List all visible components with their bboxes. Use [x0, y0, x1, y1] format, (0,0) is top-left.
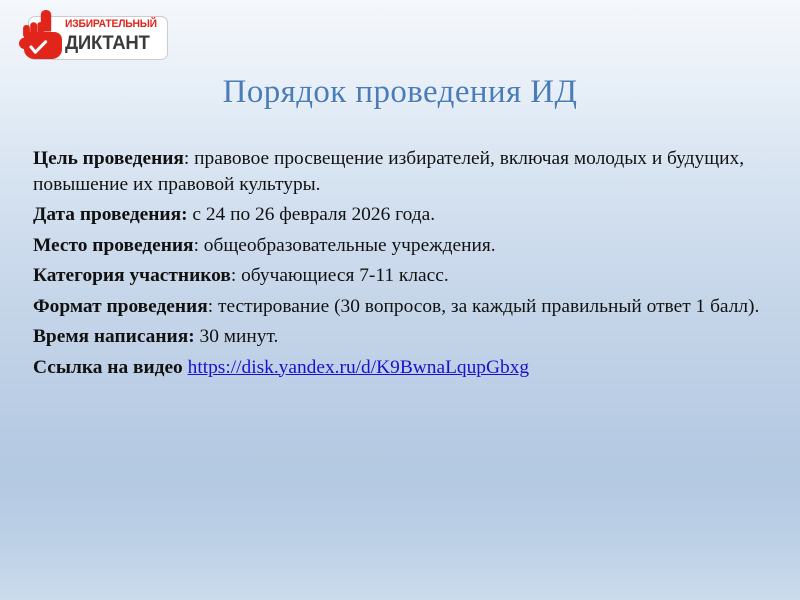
video-link[interactable]: https://disk.yandex.ru/d/K9BwnaLqupGbxg — [188, 357, 529, 378]
pointing-hand-icon — [16, 4, 70, 66]
content-item-date-rest: с 24 по 26 февраля 2026 года. — [188, 204, 436, 225]
content-item-format-rest: : тестирование (30 вопросов, за каждый п… — [208, 296, 760, 317]
content-item-category: Категория участников: обучающиеся 7-11 к… — [33, 263, 761, 289]
content-item-duration-rest: 30 минут. — [195, 326, 279, 347]
content-item-video-link-lead: Ссылка на видео — [33, 357, 183, 378]
content-item-date-lead: Дата проведения: — [33, 204, 188, 225]
content-item-format-lead: Формат проведения — [33, 296, 208, 317]
content-item-place-rest: : общеобразовательные учреждения. — [194, 235, 496, 256]
content-item-date: Дата проведения: с 24 по 26 февраля 2026… — [33, 202, 761, 228]
content-item-duration-lead: Время написания: — [33, 326, 195, 347]
logo-wordmark: ИЗБИРАТЕЛЬНЫЙ ДИКТАНТ — [65, 17, 169, 59]
content-item-place: Место проведения: общеобразовательные уч… — [33, 233, 761, 259]
logo-line-izbiratelny: ИЗБИРАТЕЛЬНЫЙ — [65, 17, 161, 32]
page-title: Порядок проведения ИД — [0, 74, 800, 111]
slide-body: Цель проведения: правовое просвещение из… — [33, 146, 761, 385]
content-item-category-rest: : обучающиеся 7-11 класс. — [231, 265, 449, 286]
content-item-category-lead: Категория участников — [33, 265, 231, 286]
content-item-video-link: Ссылка на видео https://disk.yandex.ru/d… — [33, 355, 761, 381]
content-item-duration: Время написания: 30 минут. — [33, 324, 761, 350]
content-item-goal: Цель проведения: правовое просвещение из… — [33, 146, 761, 197]
content-item-format: Формат проведения: тестирование (30 вопр… — [33, 294, 761, 320]
content-item-place-lead: Место проведения — [33, 235, 194, 256]
content-item-goal-lead: Цель проведения — [33, 148, 184, 169]
slide-canvas: ИЗБИРАТЕЛЬНЫЙ ДИКТАНТ Порядок проведения… — [0, 0, 800, 600]
logo-line-diktant: ДИКТАНТ — [65, 32, 164, 55]
logo: ИЗБИРАТЕЛЬНЫЙ ДИКТАНТ — [16, 4, 170, 66]
